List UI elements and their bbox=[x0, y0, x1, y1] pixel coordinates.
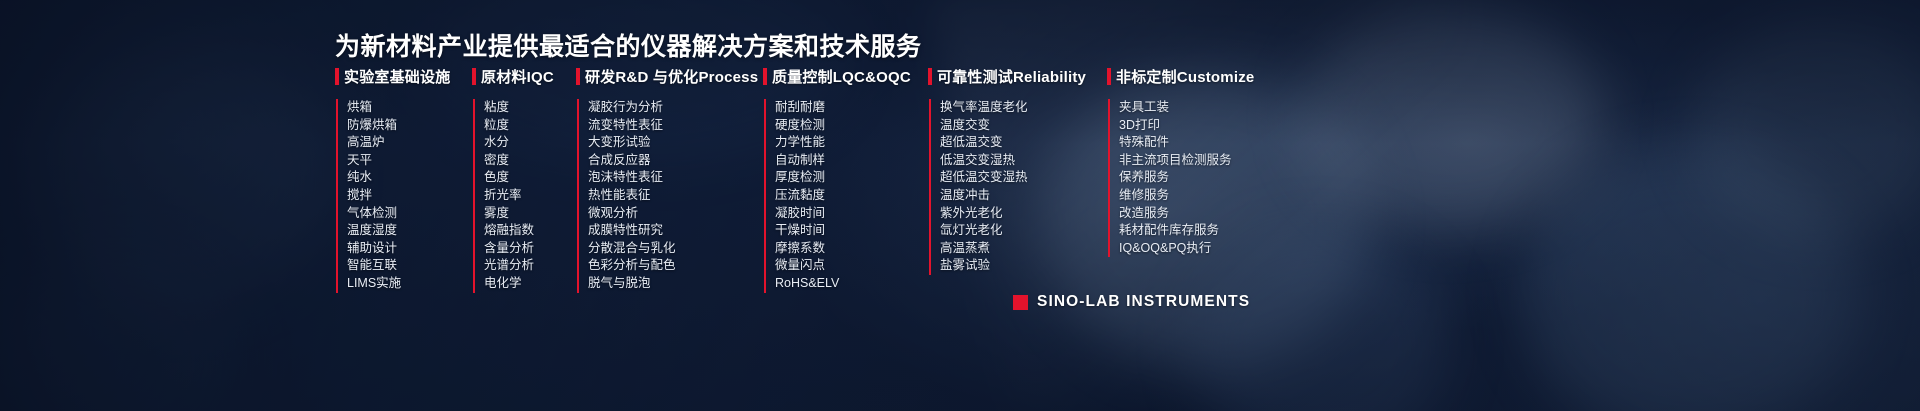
service-column-raw-material-iqc: 原材料IQC 粘度 粒度 水分 密度 色度 折光率 雾度 熔融指数 含量分析 光… bbox=[472, 66, 576, 293]
list-item[interactable]: 雾度 bbox=[484, 205, 576, 223]
column-header: 可靠性测试Reliability bbox=[928, 66, 1107, 86]
list-item[interactable]: 凝胶时间 bbox=[775, 205, 928, 223]
accent-bar-icon bbox=[928, 68, 932, 85]
list-item[interactable]: 成膜特性研究 bbox=[588, 222, 763, 240]
list-item[interactable]: 超低温交变 bbox=[940, 134, 1107, 152]
accent-bar-icon bbox=[576, 68, 580, 85]
column-header-label: 实验室基础设施 bbox=[344, 66, 450, 87]
list-item[interactable]: 夹具工装 bbox=[1119, 99, 1327, 117]
list-item[interactable]: 温度交变 bbox=[940, 117, 1107, 135]
column-item-list: 凝胶行为分析 流变特性表征 大变形试验 合成反应器 泡沫特性表征 热性能表征 微… bbox=[577, 99, 763, 293]
list-item[interactable]: 色彩分析与配色 bbox=[588, 257, 763, 275]
column-item-list: 耐刮耐磨 硬度检测 力学性能 自动制样 厚度检测 压流黏度 凝胶时间 干燥时间 … bbox=[764, 99, 928, 293]
accent-bar-icon bbox=[472, 68, 476, 85]
list-item[interactable]: 气体检测 bbox=[347, 205, 472, 223]
column-header: 研发R&D 与优化Process bbox=[576, 66, 763, 86]
list-item[interactable]: 光谱分析 bbox=[484, 257, 576, 275]
list-item[interactable]: 换气率温度老化 bbox=[940, 99, 1107, 117]
list-item[interactable]: 特殊配件 bbox=[1119, 134, 1327, 152]
list-item[interactable]: 干燥时间 bbox=[775, 222, 928, 240]
list-item[interactable]: 烘箱 bbox=[347, 99, 472, 117]
service-column-reliability: 可靠性测试Reliability 换气率温度老化 温度交变 超低温交变 低温交变… bbox=[928, 66, 1107, 275]
list-item[interactable]: 盐雾试验 bbox=[940, 257, 1107, 275]
service-column-customize: 非标定制Customize 夹具工装 3D打印 特殊配件 非主流项目检测服务 保… bbox=[1107, 66, 1327, 257]
list-item[interactable]: 电化学 bbox=[484, 275, 576, 293]
list-item[interactable]: 热性能表征 bbox=[588, 187, 763, 205]
list-item[interactable]: 厚度检测 bbox=[775, 169, 928, 187]
column-header-label: 可靠性测试Reliability bbox=[937, 66, 1086, 87]
list-item[interactable]: 色度 bbox=[484, 169, 576, 187]
list-item[interactable]: RoHS&ELV bbox=[775, 275, 928, 293]
list-item[interactable]: 合成反应器 bbox=[588, 152, 763, 170]
list-item[interactable]: 含量分析 bbox=[484, 240, 576, 258]
list-item[interactable]: 氙灯光老化 bbox=[940, 222, 1107, 240]
list-item[interactable]: 温度湿度 bbox=[347, 222, 472, 240]
list-item[interactable]: 保养服务 bbox=[1119, 169, 1327, 187]
list-item[interactable]: 搅拌 bbox=[347, 187, 472, 205]
accent-bar-icon bbox=[335, 68, 339, 85]
service-column-quality-control: 质量控制LQC&OQC 耐刮耐磨 硬度检测 力学性能 自动制样 厚度检测 压流黏… bbox=[763, 66, 928, 293]
list-item[interactable]: 维修服务 bbox=[1119, 187, 1327, 205]
red-square-icon bbox=[1013, 295, 1028, 310]
list-item[interactable]: 天平 bbox=[347, 152, 472, 170]
column-item-list: 粘度 粒度 水分 密度 色度 折光率 雾度 熔融指数 含量分析 光谱分析 电化学 bbox=[473, 99, 576, 293]
column-header-label: 非标定制Customize bbox=[1116, 66, 1254, 87]
list-item[interactable]: 耐刮耐磨 bbox=[775, 99, 928, 117]
list-item[interactable]: 摩擦系数 bbox=[775, 240, 928, 258]
list-item[interactable]: 改造服务 bbox=[1119, 205, 1327, 223]
list-item[interactable]: 微观分析 bbox=[588, 205, 763, 223]
list-item[interactable]: 熔融指数 bbox=[484, 222, 576, 240]
list-item[interactable]: 紫外光老化 bbox=[940, 205, 1107, 223]
list-item[interactable]: 智能互联 bbox=[347, 257, 472, 275]
list-item[interactable]: 泡沫特性表征 bbox=[588, 169, 763, 187]
list-item[interactable]: 力学性能 bbox=[775, 134, 928, 152]
service-column-lab-infrastructure: 实验室基础设施 烘箱 防爆烘箱 高温炉 天平 纯水 搅拌 气体检测 温度湿度 辅… bbox=[335, 66, 472, 293]
list-item[interactable]: 分散混合与乳化 bbox=[588, 240, 763, 258]
brand-logo[interactable]: SINO-LAB INSTRUMENTS bbox=[1013, 293, 1250, 311]
list-item[interactable]: 辅助设计 bbox=[347, 240, 472, 258]
list-item[interactable]: 脱气与脱泡 bbox=[588, 275, 763, 293]
list-item[interactable]: 压流黏度 bbox=[775, 187, 928, 205]
list-item[interactable]: 高温炉 bbox=[347, 134, 472, 152]
column-header-label: 质量控制LQC&OQC bbox=[772, 66, 911, 87]
column-header: 实验室基础设施 bbox=[335, 66, 472, 86]
banner-content: 为新材料产业提供最适合的仪器解决方案和技术服务 实验室基础设施 烘箱 防爆烘箱 … bbox=[0, 0, 1920, 411]
list-item[interactable]: 高温蒸煮 bbox=[940, 240, 1107, 258]
brand-name: SINO-LAB INSTRUMENTS bbox=[1037, 293, 1250, 311]
list-item[interactable]: 非主流项目检测服务 bbox=[1119, 152, 1327, 170]
column-item-list: 夹具工装 3D打印 特殊配件 非主流项目检测服务 保养服务 维修服务 改造服务 … bbox=[1108, 99, 1327, 257]
list-item[interactable]: 凝胶行为分析 bbox=[588, 99, 763, 117]
column-item-list: 烘箱 防爆烘箱 高温炉 天平 纯水 搅拌 气体检测 温度湿度 辅助设计 智能互联… bbox=[336, 99, 472, 293]
list-item[interactable]: 微量闪点 bbox=[775, 257, 928, 275]
list-item[interactable]: 自动制样 bbox=[775, 152, 928, 170]
column-header: 非标定制Customize bbox=[1107, 66, 1327, 86]
list-item[interactable]: 超低温交变湿热 bbox=[940, 169, 1107, 187]
list-item[interactable]: 折光率 bbox=[484, 187, 576, 205]
list-item[interactable]: 耗材配件库存服务 bbox=[1119, 222, 1327, 240]
list-item[interactable]: 水分 bbox=[484, 134, 576, 152]
list-item[interactable]: 防爆烘箱 bbox=[347, 117, 472, 135]
column-header: 质量控制LQC&OQC bbox=[763, 66, 928, 86]
list-item[interactable]: LIMS实施 bbox=[347, 275, 472, 293]
list-item[interactable]: 3D打印 bbox=[1119, 117, 1327, 135]
list-item[interactable]: 温度冲击 bbox=[940, 187, 1107, 205]
column-item-list: 换气率温度老化 温度交变 超低温交变 低温交变湿热 超低温交变湿热 温度冲击 紫… bbox=[929, 99, 1107, 275]
list-item[interactable]: 纯水 bbox=[347, 169, 472, 187]
list-item[interactable]: 粒度 bbox=[484, 117, 576, 135]
list-item[interactable]: 大变形试验 bbox=[588, 134, 763, 152]
service-column-rd-process: 研发R&D 与优化Process 凝胶行为分析 流变特性表征 大变形试验 合成反… bbox=[576, 66, 763, 293]
list-item[interactable]: 密度 bbox=[484, 152, 576, 170]
column-header-label: 原材料IQC bbox=[481, 66, 554, 87]
page-title: 为新材料产业提供最适合的仪器解决方案和技术服务 bbox=[335, 27, 922, 63]
list-item[interactable]: 粘度 bbox=[484, 99, 576, 117]
accent-bar-icon bbox=[1107, 68, 1111, 85]
column-header: 原材料IQC bbox=[472, 66, 576, 86]
column-header-label: 研发R&D 与优化Process bbox=[585, 66, 758, 87]
accent-bar-icon bbox=[763, 68, 767, 85]
list-item[interactable]: 低温交变湿热 bbox=[940, 152, 1107, 170]
service-columns: 实验室基础设施 烘箱 防爆烘箱 高温炉 天平 纯水 搅拌 气体检测 温度湿度 辅… bbox=[335, 66, 1327, 293]
list-item[interactable]: 流变特性表征 bbox=[588, 117, 763, 135]
list-item[interactable]: 硬度检测 bbox=[775, 117, 928, 135]
list-item[interactable]: IQ&OQ&PQ执行 bbox=[1119, 240, 1327, 258]
